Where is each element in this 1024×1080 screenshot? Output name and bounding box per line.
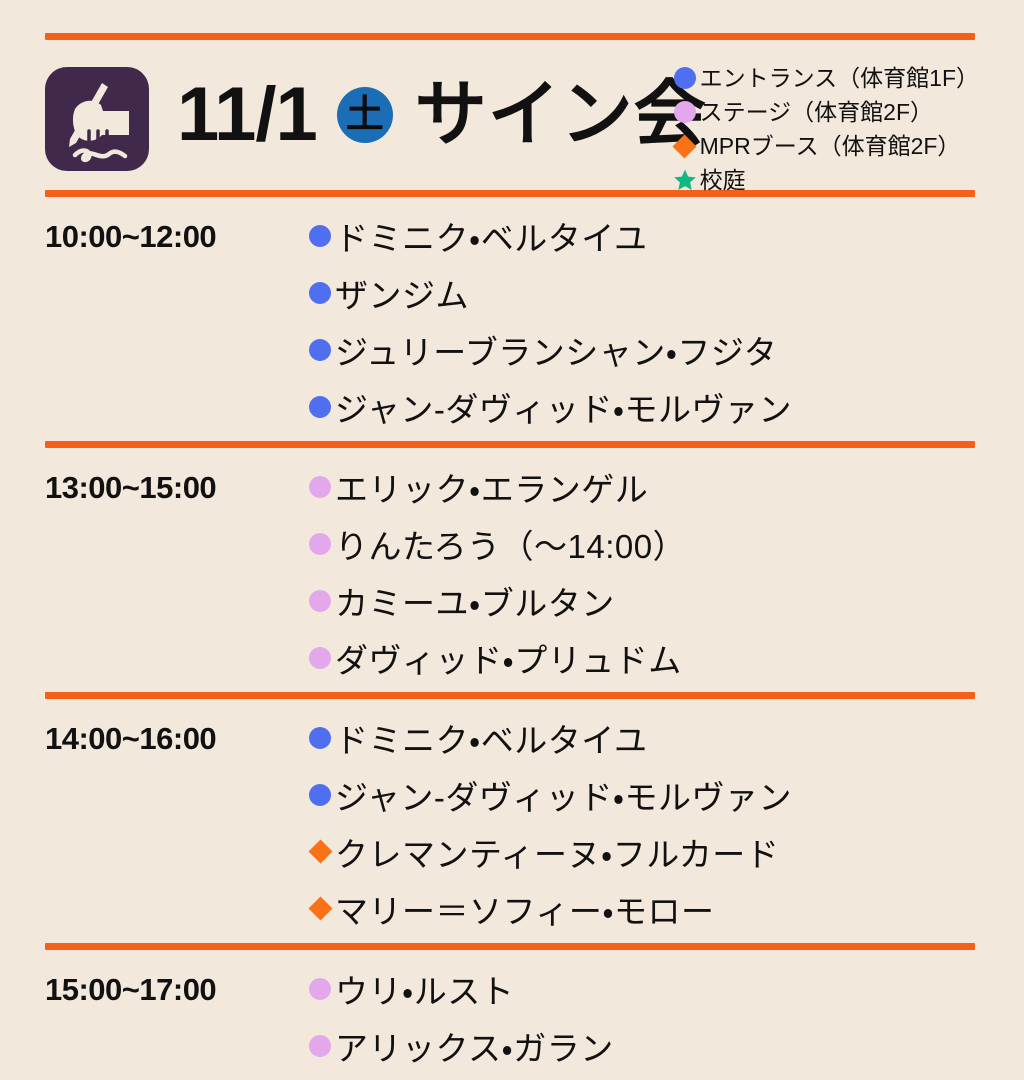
lavender-circle-icon [307, 1035, 333, 1057]
event-date: 11/1 [177, 77, 317, 153]
entry-name: ジャン-ダヴィッド・モルヴァン [335, 383, 792, 431]
lavender-circle-icon [307, 476, 333, 498]
weekday-badge: 土 [337, 87, 393, 143]
entry-name: ザンジム [335, 269, 469, 317]
legend-label: エントランス（体育館1F） [700, 62, 979, 94]
block-entries: ウリ・ルスト アリックス・ガラン [307, 958, 979, 1074]
entry-name: クレマンティーヌ・フルカード [335, 828, 779, 876]
schedule-block: 10:00~12:00 ドミニク・ベルタイユ ザンジム ジュリーブランシャン・フ… [45, 197, 979, 441]
list-item: ジャン-ダヴィッド・モルヴァン [307, 378, 979, 435]
blue-circle-icon [307, 784, 333, 806]
entry-name: ドミニク・ベルタイユ [335, 212, 648, 260]
list-item: ドミニク・ベルタイユ [307, 709, 979, 766]
list-item: クレマンティーヌ・フルカード [307, 823, 979, 880]
list-item: ジャン-ダヴィッド・モルヴァン [307, 766, 979, 823]
divider-block [45, 692, 975, 699]
entry-name: カミーユ・ブルタン [335, 577, 615, 625]
entry-name: ドミニク・ベルタイユ [335, 714, 648, 762]
entry-name: ジャン-ダヴィッド・モルヴァン [335, 771, 792, 819]
list-item: アリックス・ガラン [307, 1017, 979, 1074]
blue-circle-icon [307, 396, 333, 418]
legend-item-stage: ステージ（体育館2F） [673, 96, 979, 128]
blue-circle-icon [673, 66, 697, 90]
lavender-circle-icon [307, 647, 333, 669]
lavender-circle-icon [307, 590, 333, 612]
schedule-block: 15:00~17:00 ウリ・ルスト アリックス・ガラン [45, 950, 979, 1080]
list-item: ウリ・ルスト [307, 960, 979, 1017]
divider-top [45, 33, 975, 40]
legend: エントランス（体育館1F） ステージ（体育館2F） MPRブース（体育館2F） … [673, 62, 979, 198]
blue-circle-icon [307, 339, 333, 361]
poster-header: 11/1 土 サイン会 エントランス（体育館1F） ステージ（体育館2F） MP… [45, 40, 979, 190]
divider-block [45, 943, 975, 950]
legend-item-entrance: エントランス（体育館1F） [673, 62, 979, 94]
list-item: ザンジム [307, 264, 979, 321]
block-entries: ドミニク・ベルタイユ ザンジム ジュリーブランシャン・フジタ ジャン-ダヴィッド… [307, 205, 979, 435]
legend-item-schoolyard: 校庭 [673, 164, 979, 196]
lavender-circle-icon [307, 978, 333, 1000]
entry-name: ダヴィッド・プリュドム [335, 634, 682, 682]
orange-diamond-icon [307, 900, 333, 917]
lavender-circle-icon [307, 533, 333, 555]
block-time: 10:00~12:00 [45, 205, 307, 255]
legend-label: ステージ（体育館2F） [700, 96, 933, 128]
block-time: 14:00~16:00 [45, 707, 307, 757]
list-item: カミーユ・ブルタン [307, 572, 979, 629]
blue-circle-icon [307, 225, 333, 247]
legend-item-mpr-booth: MPRブース（体育館2F） [673, 130, 979, 162]
entry-name: エリック・エランゲル [335, 463, 648, 511]
block-time: 13:00~15:00 [45, 456, 307, 506]
list-item: ドミニク・ベルタイユ [307, 207, 979, 264]
entry-name: りんたろう（〜14:00） [335, 520, 686, 568]
entry-name: アリックス・ガラン [335, 1022, 614, 1070]
orange-diamond-icon [673, 134, 697, 158]
title-row: 11/1 土 サイン会 [45, 40, 707, 190]
list-item: りんたろう（〜14:00） [307, 515, 979, 572]
block-entries: ドミニク・ベルタイユ ジャン-ダヴィッド・モルヴァン クレマンティーヌ・フルカー… [307, 707, 979, 937]
schedule-block: 14:00~16:00 ドミニク・ベルタイユ ジャン-ダヴィッド・モルヴァン ク… [45, 699, 979, 943]
list-item: エリック・エランゲル [307, 458, 979, 515]
page-title: サイン会 [415, 79, 707, 151]
lavender-circle-icon [673, 100, 697, 124]
green-star-icon [673, 168, 697, 192]
list-item: ダヴィッド・プリュドム [307, 629, 979, 686]
entry-name: ジュリーブランシャン・フジタ [335, 326, 777, 374]
legend-label: MPRブース（体育館2F） [700, 130, 961, 162]
entry-name: マリー＝ソフィー・モロー [335, 885, 715, 933]
entry-name: ウリ・ルスト [335, 965, 514, 1013]
blue-circle-icon [307, 727, 333, 749]
schedule-block: 13:00~15:00 エリック・エランゲル りんたろう（〜14:00） カミー… [45, 448, 979, 692]
schedule-poster: 11/1 土 サイン会 エントランス（体育館1F） ステージ（体育館2F） MP… [0, 33, 1024, 1057]
block-entries: エリック・エランゲル りんたろう（〜14:00） カミーユ・ブルタン ダヴィッド… [307, 456, 979, 686]
signature-hand-pen-icon [45, 67, 149, 171]
list-item: マリー＝ソフィー・モロー [307, 880, 979, 937]
legend-label: 校庭 [700, 164, 746, 196]
block-time: 15:00~17:00 [45, 958, 307, 1008]
blue-circle-icon [307, 282, 333, 304]
divider-block [45, 441, 975, 448]
orange-diamond-icon [307, 843, 333, 860]
list-item: ジュリーブランシャン・フジタ [307, 321, 979, 378]
